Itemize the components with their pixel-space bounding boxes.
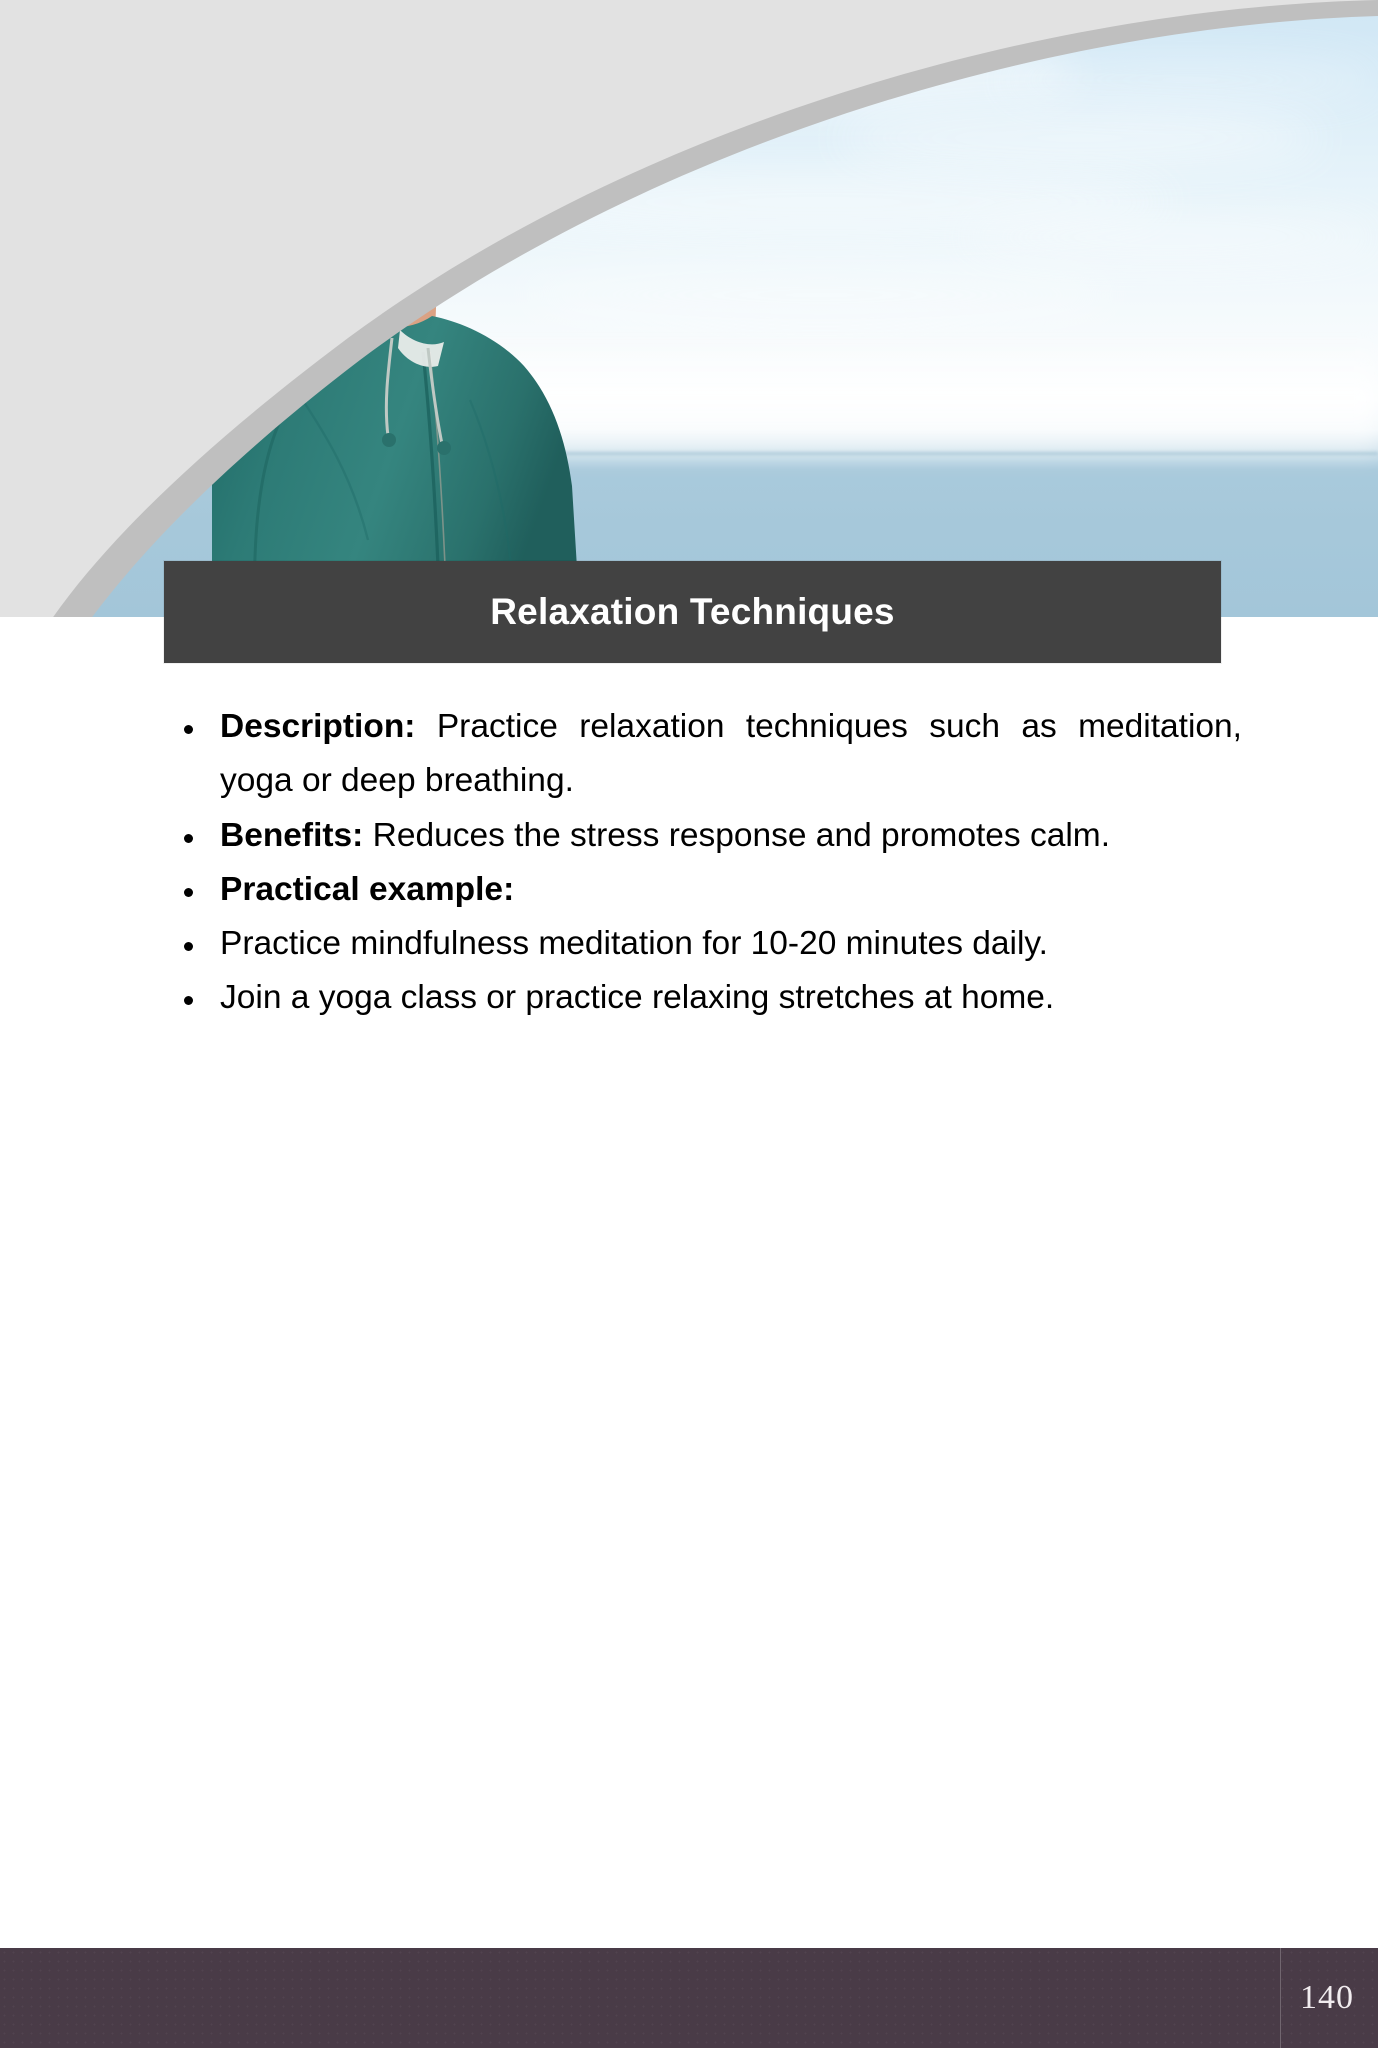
list-item: Practical example:	[168, 863, 1242, 917]
bullet-lead: Benefits:	[220, 817, 363, 854]
bullet-lead: Practical example:	[220, 871, 514, 908]
list-item: Join a yoga class or practice relaxing s…	[168, 971, 1242, 1025]
bullet-text: Practice mindfulness meditation for 10-2…	[220, 925, 1048, 962]
page-footer-bar: 140	[0, 1948, 1378, 2048]
slide-title-bar: Relaxation Techniques	[164, 561, 1221, 663]
hero-banner	[0, 0, 1378, 617]
page-number: 140	[1300, 1979, 1354, 2017]
slide-title: Relaxation Techniques	[490, 593, 894, 630]
list-item: Description: Practice relaxation techniq…	[168, 700, 1242, 809]
footer-divider	[1280, 1948, 1281, 2048]
bullet-lead: Description:	[220, 708, 415, 745]
bullet-text: Join a yoga class or practice relaxing s…	[220, 979, 1054, 1016]
bullet-text: Reduces the stress response and promotes…	[363, 817, 1110, 854]
bullet-list: Description: Practice relaxation techniq…	[168, 700, 1242, 1026]
slide-body: Description: Practice relaxation techniq…	[168, 700, 1242, 1026]
list-item: Benefits: Reduces the stress response an…	[168, 809, 1242, 863]
list-item: Practice mindfulness meditation for 10-2…	[168, 917, 1242, 971]
person-meditating-illustration	[0, 0, 1378, 617]
